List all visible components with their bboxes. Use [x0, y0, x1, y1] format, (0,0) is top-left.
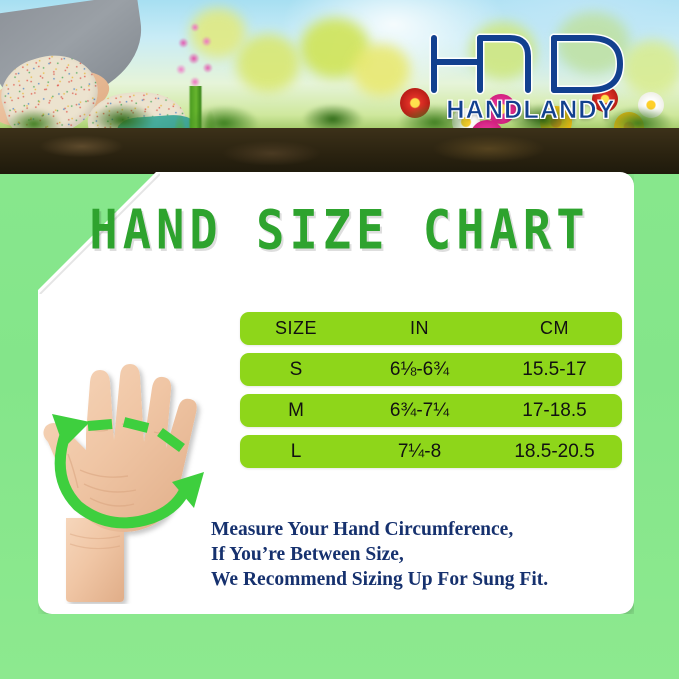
note-line-2: If You’re Between Size, [211, 542, 641, 567]
column-header-size: SIZE [240, 318, 352, 339]
table-header-row: SIZE IN CM [240, 312, 622, 345]
cell-cm: 15.5-17 [487, 359, 622, 381]
hyacinth-flower [166, 18, 224, 96]
table-row: L 7¼-8 18.5-20.5 [240, 435, 622, 468]
brand-wordmark: HANDLANDY [446, 96, 615, 125]
cell-cm: 18.5-20.5 [487, 441, 622, 463]
hand-illustration [28, 322, 234, 604]
column-header-in: IN [352, 318, 487, 339]
cell-size: L [240, 441, 352, 463]
foliage-blob [236, 34, 300, 92]
foliage-blob [352, 44, 410, 96]
column-header-cm: CM [487, 318, 622, 339]
cell-size: M [240, 400, 352, 422]
cell-size: S [240, 359, 352, 381]
brand-logo: HANDLANDY [417, 28, 645, 140]
cell-cm: 17-18.5 [487, 400, 622, 422]
cell-in: 6¾-7¼ [352, 400, 487, 422]
cell-in: 7¼-8 [352, 441, 487, 463]
size-table: SIZE IN CM S 6⅛-6¾ 15.5-17 M 6¾-7¼ 17-18… [240, 312, 622, 476]
note-line-3: We Recommend Sizing Up For Sung Fit. [211, 567, 641, 592]
note-line-1: Measure Your Hand Circumference, [211, 517, 641, 542]
sizing-note: Measure Your Hand Circumference, If You’… [211, 517, 641, 592]
table-row: S 6⅛-6¾ 15.5-17 [240, 353, 622, 386]
page-title: HAND SIZE CHART [0, 198, 679, 262]
cell-in: 6⅛-6¾ [352, 359, 487, 381]
hd-monogram-icon [424, 28, 638, 98]
table-row: M 6¾-7¼ 17-18.5 [240, 394, 622, 427]
